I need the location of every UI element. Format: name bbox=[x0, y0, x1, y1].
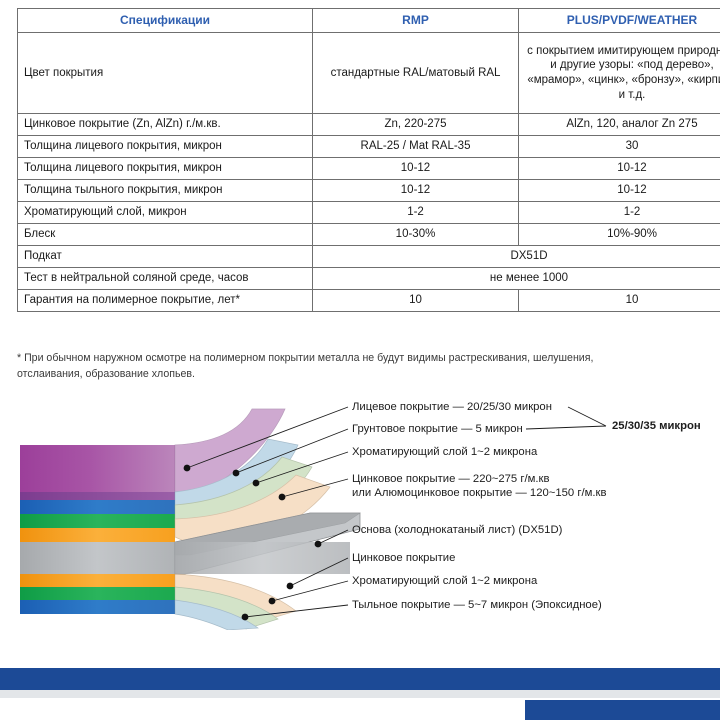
cell-rmp-gloss: 10-30% bbox=[313, 224, 519, 246]
table-row: Толщина лицевого покрытия, микрон RAL-25… bbox=[18, 136, 720, 158]
footnote-line-1: * При обычном наружном осмотре на полиме… bbox=[17, 352, 593, 364]
layer-zinc-bottom-flat bbox=[20, 574, 175, 587]
cell-span-salt-test: не менее 1000 bbox=[313, 268, 720, 290]
label-chromate-bottom: Хроматирующий слой 1~2 микрона bbox=[352, 574, 537, 589]
cell-plus-warranty: 10 bbox=[519, 290, 720, 312]
label-alzn-alt: или Алюмоцинковое покрытие — 120~150 г/м… bbox=[352, 486, 606, 501]
row-label-back-thickness: Толщина тыльного покрытия, микрон bbox=[18, 180, 313, 202]
layer-topcoat-flat bbox=[20, 445, 175, 492]
layer-chromate-bottom-flat bbox=[20, 587, 175, 600]
row-label-warranty: Гарантия на полимерное покрытие, лет* bbox=[18, 290, 313, 312]
footer-bar-primary bbox=[0, 668, 720, 690]
dot-chromate-bottom bbox=[269, 598, 276, 605]
layer-backcoat-flat bbox=[20, 600, 175, 614]
table-row: Толщина тыльного покрытия, микрон 10-12 … bbox=[18, 180, 720, 202]
column-header-rmp: RMP bbox=[313, 9, 519, 33]
cell-rmp-warranty: 10 bbox=[313, 290, 519, 312]
row-label-gloss: Блеск bbox=[18, 224, 313, 246]
peeled-layers-bottom bbox=[175, 574, 296, 630]
cell-plus-chromate: 1-2 bbox=[519, 202, 720, 224]
cell-rmp-face-thickness-1: RAL-25 / Mat RAL-35 bbox=[313, 136, 519, 158]
row-label-zinc-coating: Цинковое покрытие (Zn, AlZn) г./м.кв. bbox=[18, 114, 313, 136]
layer-primer-flat bbox=[20, 492, 175, 500]
specifications-table-container: Спецификации RMP PLUS/PVDF/WEATHER Цвет … bbox=[17, 8, 720, 312]
footnote-line-2: отслаивания, образование хлопьев. bbox=[17, 366, 720, 382]
cell-plus-face-thickness-1: 30 bbox=[519, 136, 720, 158]
row-label-face-thickness-1: Толщина лицевого покрытия, микрон bbox=[18, 136, 313, 158]
cell-rmp-chromate: 1-2 bbox=[313, 202, 519, 224]
cell-rmp-face-thickness-2: 10-12 bbox=[313, 158, 519, 180]
layer-chromate-top-flat bbox=[20, 500, 175, 514]
dot-substrate bbox=[315, 541, 322, 548]
label-chromate-top: Хроматирующий слой 1~2 микрона bbox=[352, 445, 537, 460]
label-total-thickness: 25/30/35 микрон bbox=[612, 419, 701, 434]
table-row: Толщина лицевого покрытия, микрон 10-12 … bbox=[18, 158, 720, 180]
footer-strip-gray bbox=[0, 690, 720, 698]
table-header-row: Спецификации RMP PLUS/PVDF/WEATHER bbox=[18, 9, 720, 33]
dot-primer bbox=[233, 470, 240, 477]
cell-rmp-back-thickness: 10-12 bbox=[313, 180, 519, 202]
cell-rmp-color: стандартные RAL/матовый RAL bbox=[313, 33, 519, 114]
row-label-face-thickness-2: Толщина лицевого покрытия, микрон bbox=[18, 158, 313, 180]
column-header-plus-pvdf-weather: PLUS/PVDF/WEATHER bbox=[519, 9, 720, 33]
table-row: Цинковое покрытие (Zn, AlZn) г./м.кв. Zn… bbox=[18, 114, 720, 136]
cell-plus-zinc-coating: AlZn, 120, аналог Zn 275 bbox=[519, 114, 720, 136]
column-header-specifications: Спецификации bbox=[18, 9, 313, 33]
table-row: Гарантия на полимерное покрытие, лет* 10… bbox=[18, 290, 720, 312]
cell-plus-face-thickness-2: 10-12 bbox=[519, 158, 720, 180]
row-label-chromate: Хроматирующий слой, микрон bbox=[18, 202, 313, 224]
label-substrate: Основа (холоднокатаный лист) (DX51D) bbox=[352, 523, 562, 538]
row-label-substrate: Подкат bbox=[18, 246, 313, 268]
dot-zinc-bottom bbox=[287, 583, 294, 590]
label-primer: Грунтовое покрытие — 5 микрон bbox=[352, 422, 523, 437]
dot-topcoat bbox=[184, 465, 191, 472]
cell-plus-gloss: 10%-90% bbox=[519, 224, 720, 246]
row-label-color: Цвет покрытия bbox=[18, 33, 313, 114]
table-row: Тест в нейтральной соляной среде, часов … bbox=[18, 268, 720, 290]
cell-span-substrate: DX51D bbox=[313, 246, 720, 268]
table-row: Подкат DX51D bbox=[18, 246, 720, 268]
cell-plus-back-thickness: 10-12 bbox=[519, 180, 720, 202]
dot-backcoat bbox=[242, 614, 249, 621]
flat-layer-stack bbox=[20, 445, 175, 614]
dot-chromate-top bbox=[253, 480, 260, 487]
layer-alzn-flat bbox=[20, 528, 175, 542]
label-zinc-bottom: Цинковое покрытие bbox=[352, 551, 455, 566]
coating-layers-diagram: Лицевое покрытие — 20/25/30 микрон Грунт… bbox=[0, 395, 720, 630]
cell-plus-color: с покрытием имитирующем природные и друг… bbox=[519, 33, 720, 114]
dot-zinc-top bbox=[279, 494, 286, 501]
table-row: Хроматирующий слой, микрон 1-2 1-2 bbox=[18, 202, 720, 224]
label-zinc-top: Цинковое покрытие — 220~275 г/м.кв bbox=[352, 472, 549, 487]
label-backcoat: Тыльное покрытие — 5~7 микрон (Эпоксидно… bbox=[352, 598, 602, 613]
row-label-salt-test: Тест в нейтральной соляной среде, часов bbox=[18, 268, 313, 290]
layer-zinc-top-flat bbox=[20, 514, 175, 528]
specifications-table: Спецификации RMP PLUS/PVDF/WEATHER Цвет … bbox=[17, 8, 720, 312]
table-row: Цвет покрытия стандартные RAL/матовый RA… bbox=[18, 33, 720, 114]
footnote: * При обычном наружном осмотре на полиме… bbox=[17, 350, 720, 383]
label-topcoat: Лицевое покрытие — 20/25/30 микрон bbox=[352, 400, 552, 415]
substrate-body bbox=[175, 542, 350, 574]
footer-bar-secondary bbox=[525, 700, 720, 720]
layer-substrate-flat bbox=[20, 542, 175, 574]
cell-rmp-zinc-coating: Zn, 220-275 bbox=[313, 114, 519, 136]
table-body: Цвет покрытия стандартные RAL/матовый RA… bbox=[18, 33, 720, 312]
table-header: Спецификации RMP PLUS/PVDF/WEATHER bbox=[18, 9, 720, 33]
table-row: Блеск 10-30% 10%-90% bbox=[18, 224, 720, 246]
